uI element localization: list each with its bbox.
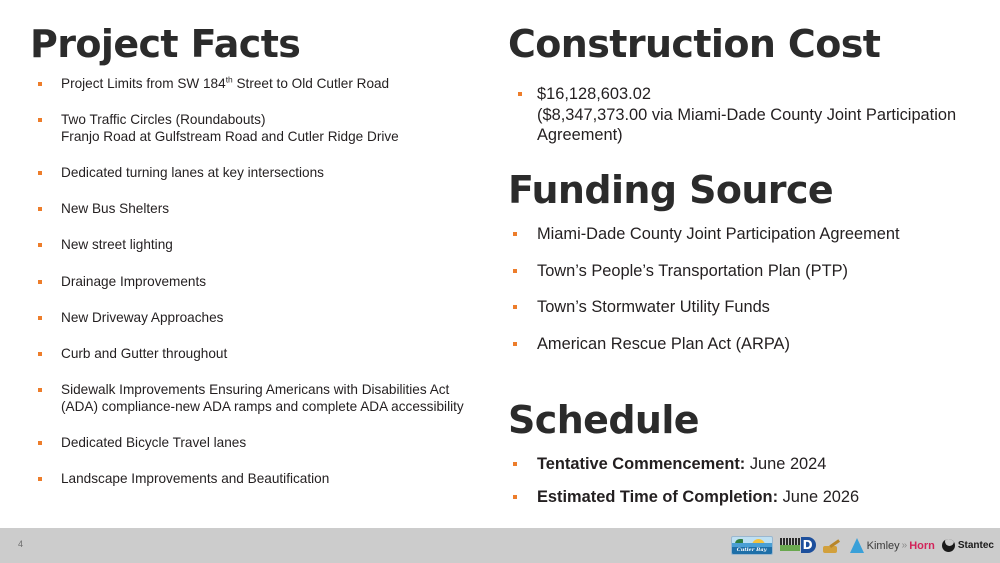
list-item: American Rescue Plan Act (ARPA) [513,334,981,355]
list-item-label: Town’s Stormwater Utility Funds [537,298,770,316]
funding-source-title: Funding Source [508,171,833,209]
project-facts-title: Project Facts [30,25,300,63]
list-item-label: Drainage Improvements [61,274,206,289]
excavator-icon [823,537,843,554]
schedule-title: Schedule [508,401,699,439]
kimley-horn-logo: Kimley » Horn [850,538,935,553]
list-item: Two Traffic Circles (Roundabouts)Franjo … [38,112,486,145]
funding-source-list: Miami-Dade County Joint Participation Ag… [513,224,981,370]
chevron-separator-icon: » [902,540,908,551]
bullet-icon [38,118,42,122]
list-item-label: Dedicated turning lanes at key intersect… [61,165,324,180]
slide-number: 4 [18,539,23,549]
list-item-label: American Rescue Plan Act (ARPA) [537,335,790,353]
bullet-icon [38,352,42,356]
list-item: Dedicated turning lanes at key intersect… [38,165,486,182]
list-item: Town’s People’s Transportation Plan (PTP… [513,261,981,282]
list-item-label: Project Limits from SW 184th Street to O… [61,76,389,91]
schedule-item-value: June 2024 [750,455,827,473]
list-item-label: New Bus Shelters [61,201,169,216]
list-item: Dedicated Bicycle Travel lanes [38,435,486,452]
list-item: Town’s Stormwater Utility Funds [513,297,981,318]
bullet-icon [513,342,517,346]
list-item-label: New Driveway Approaches [61,310,223,325]
schedule-item-value: June 2026 [783,488,860,506]
project-facts-list: Project Limits from SW 184th Street to O… [38,76,486,507]
kimley-horn-first: Kimley [867,540,900,552]
list-item: Curb and Gutter throughout [38,346,486,363]
stantec-mark-icon [942,539,955,552]
bullet-icon [38,316,42,320]
bullet-icon [38,171,42,175]
miami-dade-d-mark: D [801,537,816,553]
bullet-icon [38,243,42,247]
barcode-mark [780,538,800,545]
slide-canvas: Project Facts Project Limits from SW 184… [0,0,1000,563]
bullet-icon [38,477,42,481]
list-item: Tentative Commencement: June 2024 [513,454,981,475]
list-item-label: Two Traffic Circles (Roundabouts)Franjo … [61,112,399,144]
list-item-label: Dedicated Bicycle Travel lanes [61,435,246,450]
bullet-icon [513,269,517,273]
triangle-icon [850,538,864,553]
list-item: Project Limits from SW 184th Street to O… [38,76,486,93]
list-item: New Bus Shelters [38,201,486,218]
bullet-icon [38,388,42,392]
stantec-logo-text: Stantec [958,540,994,551]
list-item-label: Landscape Improvements and Beautificatio… [61,471,329,486]
bullet-icon [513,232,517,236]
bullet-icon [38,441,42,445]
construction-cost-total: $16,128,603.02 [537,85,651,103]
miami-dade-county-logo: D [780,537,816,554]
construction-cost-title: Construction Cost [508,25,880,63]
list-item: Drainage Improvements [38,274,486,291]
list-item-label: Sidewalk Improvements Ensuring Americans… [61,382,464,414]
list-item: $16,128,603.02 ($8,347,373.00 via Miami-… [518,84,980,146]
schedule-item-label: Estimated Time of Completion: [537,488,778,506]
miami-dade-county-logo-text [780,545,800,551]
list-item-label: Miami-Dade County Joint Participation Ag… [537,225,900,243]
partner-logo-strip: Cutler Bay D Kimley » Horn Stantec [731,528,994,563]
list-item: New street lighting [38,237,486,254]
schedule-item-label: Tentative Commencement: [537,455,745,473]
bullet-icon [38,82,42,86]
bullet-icon [513,462,517,466]
bullet-icon [38,207,42,211]
bullet-icon [38,280,42,284]
construction-cost-list: $16,128,603.02 ($8,347,373.00 via Miami-… [518,84,980,146]
list-item-label: Town’s People’s Transportation Plan (PTP… [537,262,848,280]
bullet-icon [518,92,522,96]
cutler-bay-logo: Cutler Bay [731,536,773,555]
list-item-label: New street lighting [61,237,173,252]
schedule-list: Tentative Commencement: June 2024 Estima… [513,454,981,519]
bullet-icon [513,305,517,309]
cutler-bay-logo-text: Cutler Bay [732,547,772,554]
list-item: Landscape Improvements and Beautificatio… [38,471,486,488]
slide-footer: 4 Cutler Bay D Kimley » Horn [0,528,1000,563]
list-item-label: Curb and Gutter throughout [61,346,227,361]
list-item: Miami-Dade County Joint Participation Ag… [513,224,981,245]
list-item: Estimated Time of Completion: June 2026 [513,487,981,508]
list-item: New Driveway Approaches [38,310,486,327]
construction-cost-note: ($8,347,373.00 via Miami-Dade County Joi… [537,106,956,145]
stantec-logo: Stantec [942,539,994,552]
kimley-horn-second: Horn [909,540,935,552]
bullet-icon [513,495,517,499]
list-item: Sidewalk Improvements Ensuring Americans… [38,382,486,415]
